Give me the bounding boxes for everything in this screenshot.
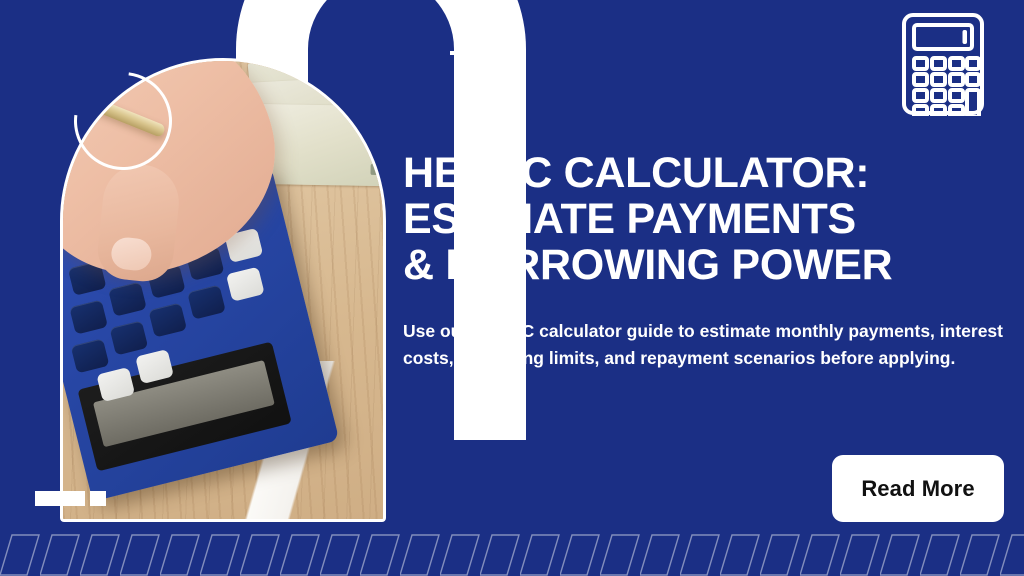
subtitle-text: Use our HELOC calculator guide to estima… <box>403 318 1008 372</box>
calculator-icon <box>901 12 985 116</box>
rectangle-decoration <box>90 491 106 506</box>
headline-line-1: HELOC CALCULATOR: <box>403 149 869 197</box>
dash-decoration <box>450 51 498 55</box>
photo-fingernail <box>110 236 153 272</box>
calculator-key <box>148 302 187 337</box>
rectangle-decoration <box>35 491 85 506</box>
calculator-key <box>109 320 148 355</box>
calculator-key <box>108 282 147 317</box>
headline-line-2: ESTIMATE PAYMENTS <box>403 195 856 243</box>
photo-finger <box>95 161 183 284</box>
calculator-screen <box>77 342 291 472</box>
diagonal-stripe-band <box>0 534 1024 576</box>
calculator-key <box>226 267 265 302</box>
calculator-key <box>69 300 108 335</box>
hero-banner: HELOC CALCULATOR: ESTIMATE PAYMENTS & BO… <box>0 0 1024 576</box>
calculator-key <box>71 338 110 373</box>
calculator-key <box>187 285 226 320</box>
headline-line-3: & BORROWING POWER <box>403 241 892 289</box>
text-content: HELOC CALCULATOR: ESTIMATE PAYMENTS & BO… <box>403 150 1008 372</box>
read-more-button[interactable]: Read More <box>832 455 1004 522</box>
page-title: HELOC CALCULATOR: ESTIMATE PAYMENTS & BO… <box>403 150 1008 288</box>
